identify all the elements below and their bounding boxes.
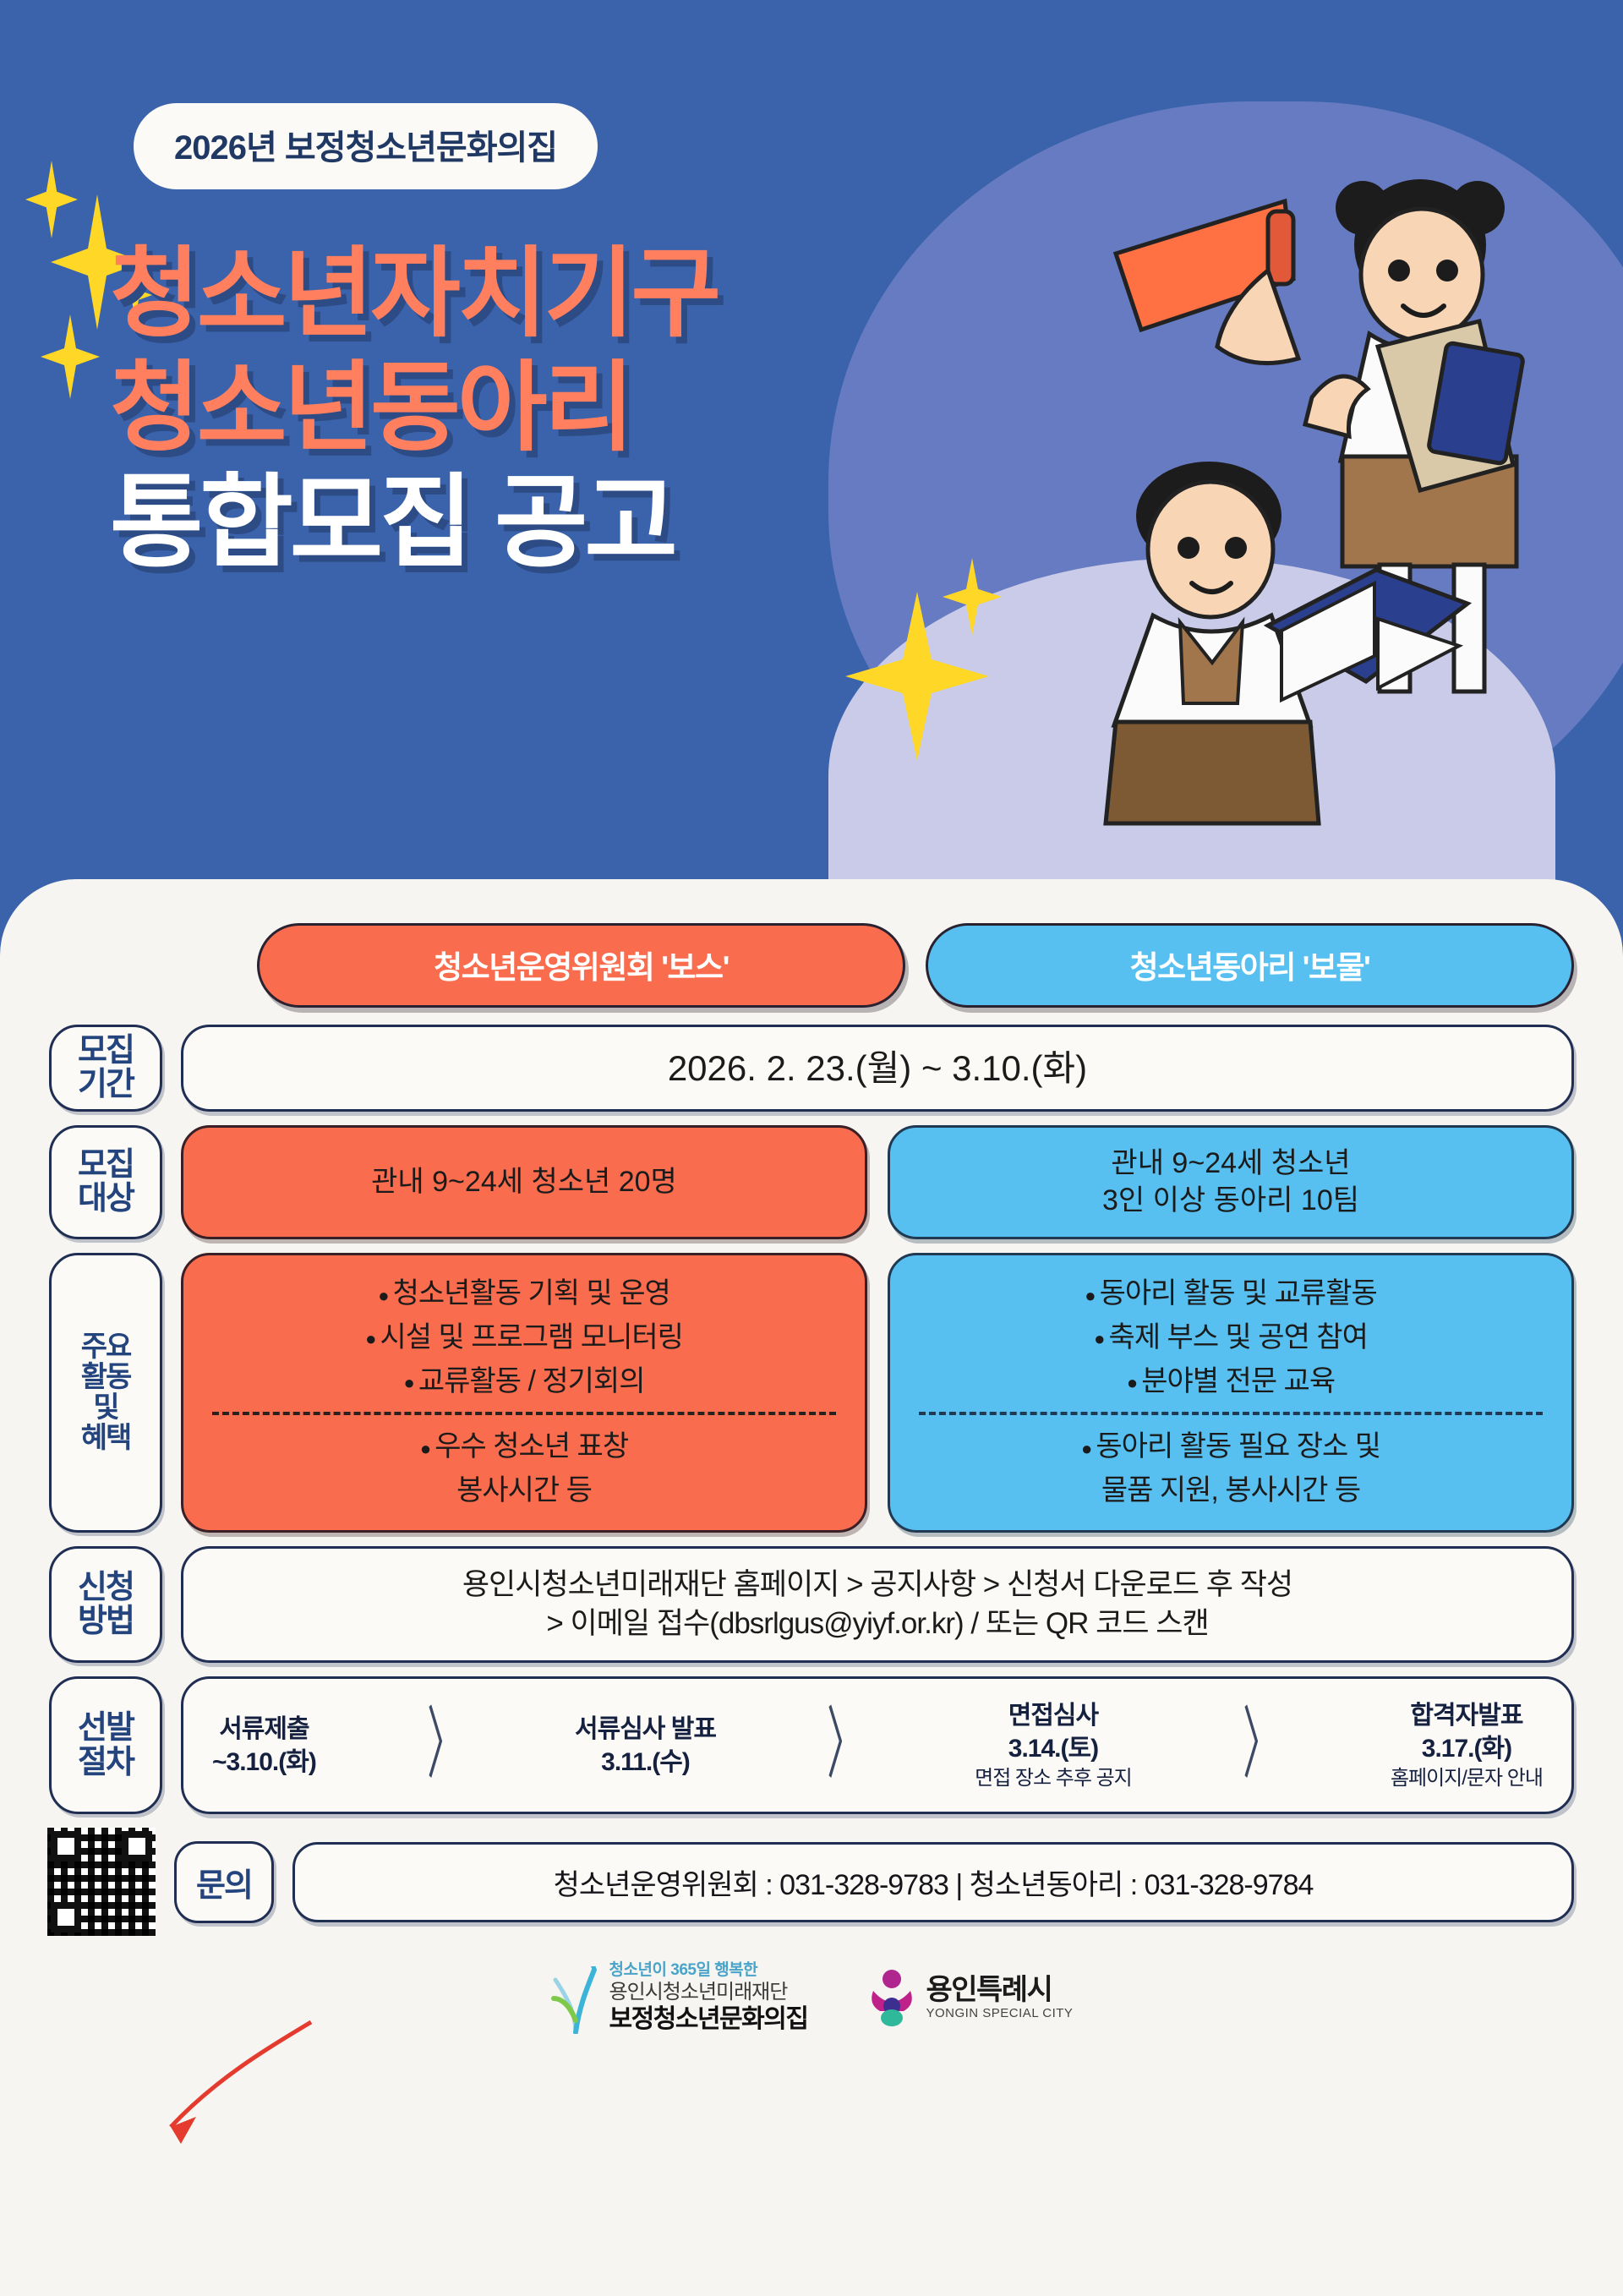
row-label-period-line2: 기간: [78, 1068, 134, 1102]
arrow-to-qr-icon: [150, 2017, 320, 2152]
title-line-2: 청소년동아리: [110, 351, 718, 465]
qr-corner-tl: [51, 1831, 81, 1861]
row-label-activities-line3: 및: [81, 1392, 131, 1423]
process-step-name: 면접심사: [975, 1699, 1132, 1732]
process-steps: 서류제출 ~3.10.(화) 〉 서류심사 발표 3.11.(수) 〉: [197, 1696, 1558, 1795]
cell-process-value: 서류제출 ~3.10.(화) 〉 서류심사 발표 3.11.(수) 〉: [181, 1676, 1574, 1814]
row-label-contact: 문의: [174, 1841, 274, 1923]
cell-target-right-line2: 3인 이상 동아리 10팀: [1102, 1182, 1359, 1220]
list-item: 동아리 활동 및 교류활동: [904, 1272, 1558, 1316]
apply-line-1: 용인시청소년미래재단 홈페이지 > 공지사항 > 신청서 다운로드 후 작성: [462, 1566, 1292, 1604]
sparkle-icon-bottom: [41, 314, 100, 399]
list-item: 분야별 전문 교육: [904, 1360, 1558, 1404]
row-cells-period: 2026. 2. 23.(월) ~ 3.10.(화): [181, 1025, 1574, 1112]
hero-section: 2026년 보정청소년문화의집 청소년자치기구 청소년동아리 통합모집 공고: [0, 0, 1623, 896]
list-item: 교류활동 / 정기회의: [197, 1360, 851, 1404]
row-label-apply: 신청 방법: [49, 1546, 162, 1663]
row-cells-process: 서류제출 ~3.10.(화) 〉 서류심사 발표 3.11.(수) 〉: [181, 1676, 1574, 1814]
chevron-right-icon: 〉: [1239, 1693, 1283, 1797]
sparkle-icon-small: [25, 161, 78, 238]
row-cells-activities: 청소년활동 기획 및 운영 시설 및 프로그램 모니터링 교류활동 / 정기회의…: [181, 1253, 1574, 1532]
cell-period-value: 2026. 2. 23.(월) ~ 3.10.(화): [181, 1025, 1574, 1112]
cell-apply-value: 용인시청소년미래재단 홈페이지 > 공지사항 > 신청서 다운로드 후 작성 >…: [181, 1546, 1574, 1663]
chevron-right-icon: 〉: [424, 1693, 467, 1797]
qr-corner-bl: [51, 1902, 81, 1932]
list-item: 봉사시간 등: [197, 1469, 851, 1513]
process-step-date: 3.11.(수): [575, 1746, 716, 1779]
process-step-note: 홈페이지/문자 안내: [1391, 1765, 1543, 1791]
row-label-process: 선발 절차: [49, 1676, 162, 1814]
row-label-target-line2: 대상: [78, 1182, 134, 1216]
apply-line-2: > 이메일 접수(dbsrlgus@yiyf.or.kr) / 또는 QR 코드…: [462, 1604, 1292, 1643]
row-apply: 신청 방법 용인시청소년미래재단 홈페이지 > 공지사항 > 신청서 다운로드 …: [49, 1546, 1574, 1663]
qr-code[interactable]: [47, 1828, 156, 1936]
divider-dashed: [919, 1412, 1543, 1415]
title-line-3: 통합모집 공고: [110, 464, 718, 582]
poster-title: 청소년자치기구 청소년동아리 통합모집 공고: [110, 237, 718, 582]
row-label-activities-line1: 주요: [81, 1331, 131, 1362]
cell-activities-right: 동아리 활동 및 교류활동 축제 부스 및 공연 참여 분야별 전문 교육 동아…: [888, 1253, 1574, 1532]
row-cells-apply: 용인시청소년미래재단 홈페이지 > 공지사항 > 신청서 다운로드 후 작성 >…: [181, 1546, 1574, 1663]
process-step-note: 면접 장소 추후 공지: [975, 1765, 1132, 1791]
sprout-icon: [550, 1961, 598, 2034]
process-step-date: 3.14.(토): [975, 1732, 1132, 1765]
poster-root: 2026년 보정청소년문화의집 청소년자치기구 청소년동아리 통합모집 공고: [0, 0, 1623, 2296]
process-step-name: 서류제출: [212, 1713, 316, 1746]
logo-yongin: 용인특례시 YONGIN SPECIAL CITY: [868, 1969, 1073, 2026]
list-item: 축제 부스 및 공연 참여: [904, 1316, 1558, 1360]
row-label-process-line1: 선발: [78, 1711, 134, 1745]
cell-contact-value: 청소년운영위원회 : 031-328-9783 | 청소년동아리 : 031-3…: [292, 1842, 1574, 1922]
logo-yongin-text: 용인특례시 YONGIN SPECIAL CITY: [926, 1975, 1073, 2020]
cell-target-right-line1: 관내 9~24세 청소년: [1102, 1145, 1359, 1183]
list-item: 물품 지원, 봉사시간 등: [904, 1469, 1558, 1513]
row-label-apply-line2: 방법: [78, 1604, 134, 1638]
row-activities: 주요 활동 및 혜택 청소년활동 기획 및 운영 시설 및 프로그램 모니터링 …: [49, 1253, 1574, 1532]
row-process: 선발 절차 서류제출 ~3.10.(화) 〉 서류심사 발표: [49, 1676, 1574, 1814]
row-label-target-line1: 모집: [78, 1148, 134, 1182]
list-item: 청소년활동 기획 및 운영: [197, 1272, 851, 1316]
row-label-target: 모집 대상: [49, 1125, 162, 1240]
row-period: 모집 기간 2026. 2. 23.(월) ~ 3.10.(화): [49, 1025, 1574, 1112]
column-header-bomul: 청소년동아리 '보물': [926, 923, 1574, 1008]
qr-corner-tr: [122, 1831, 152, 1861]
row-label-activities-line2: 활동: [81, 1362, 131, 1392]
logo-yiyf-line3: 보정청소년문화의집: [609, 2004, 808, 2034]
row-label-apply-line1: 신청: [78, 1571, 134, 1604]
process-step-3: 면접심사 3.14.(토) 면접 장소 추후 공지: [975, 1699, 1132, 1791]
process-step-name: 합격자발표: [1391, 1699, 1543, 1732]
logo-yongin-line2: YONGIN SPECIAL CITY: [926, 2007, 1073, 2021]
column-header-boss: 청소년운영위원회 '보스': [257, 923, 905, 1008]
divider-dashed: [212, 1412, 836, 1415]
row-label-period: 모집 기간: [49, 1025, 162, 1112]
process-step-date: 3.17.(화): [1391, 1732, 1543, 1765]
row-label-activities-line4: 혜택: [81, 1423, 131, 1453]
yongin-emblem-icon: [868, 1969, 915, 2026]
cell-target-right: 관내 9~24세 청소년 3인 이상 동아리 10팀: [888, 1125, 1574, 1240]
cell-activities-left: 청소년활동 기획 및 운영 시설 및 프로그램 모니터링 교류활동 / 정기회의…: [181, 1253, 867, 1532]
row-label-process-line2: 절차: [78, 1746, 134, 1779]
column-headers: 청소년운영위원회 '보스' 청소년동아리 '보물': [49, 923, 1574, 1008]
row-cells-target: 관내 9~24세 청소년 20명 관내 9~24세 청소년 3인 이상 동아리 …: [181, 1125, 1574, 1240]
row-label-activities: 주요 활동 및 혜택: [49, 1253, 162, 1532]
row-label-period-line1: 모집: [78, 1034, 134, 1068]
logo-yiyf-line1: 청소년이 365일 행복한: [609, 1961, 808, 1980]
process-step-date: ~3.10.(화): [212, 1746, 316, 1779]
list-item: 시설 및 프로그램 모니터링: [197, 1316, 851, 1360]
process-step-name: 서류심사 발표: [575, 1713, 716, 1746]
cell-target-left: 관내 9~24세 청소년 20명: [181, 1125, 867, 1240]
process-step-1: 서류제출 ~3.10.(화): [212, 1713, 316, 1779]
list-item: 우수 청소년 표창: [197, 1425, 851, 1469]
process-step-2: 서류심사 발표 3.11.(수): [575, 1713, 716, 1779]
logo-yongin-line1: 용인특례시: [926, 1975, 1073, 2006]
activities-right-list: 동아리 활동 및 교류활동 축제 부스 및 공연 참여 분야별 전문 교육 동아…: [904, 1272, 1558, 1512]
list-item: 동아리 활동 필요 장소 및: [904, 1425, 1558, 1469]
row-contact: 문의 청소년운영위원회 : 031-328-9783 | 청소년동아리 : 03…: [49, 1828, 1574, 1936]
students-illustration: [1014, 152, 1606, 896]
header-badge: 2026년 보정청소년문화의집: [134, 103, 598, 189]
title-line-1: 청소년자치기구: [110, 237, 718, 351]
process-step-4: 합격자발표 3.17.(화) 홈페이지/문자 안내: [1391, 1699, 1543, 1791]
logo-yiyf-line2: 용인시청소년미래재단: [609, 1981, 808, 2004]
chevron-right-icon: 〉: [823, 1693, 867, 1797]
activities-left-list: 청소년활동 기획 및 운영 시설 및 프로그램 모니터링 교류활동 / 정기회의…: [197, 1272, 851, 1512]
logo-yiyf-text: 청소년이 365일 행복한 용인시청소년미래재단 보정청소년문화의집: [609, 1961, 808, 2034]
logo-yiyf: 청소년이 365일 행복한 용인시청소년미래재단 보정청소년문화의집: [550, 1961, 808, 2034]
row-target: 모집 대상 관내 9~24세 청소년 20명 관내 9~24세 청소년 3인 이…: [49, 1125, 1574, 1240]
